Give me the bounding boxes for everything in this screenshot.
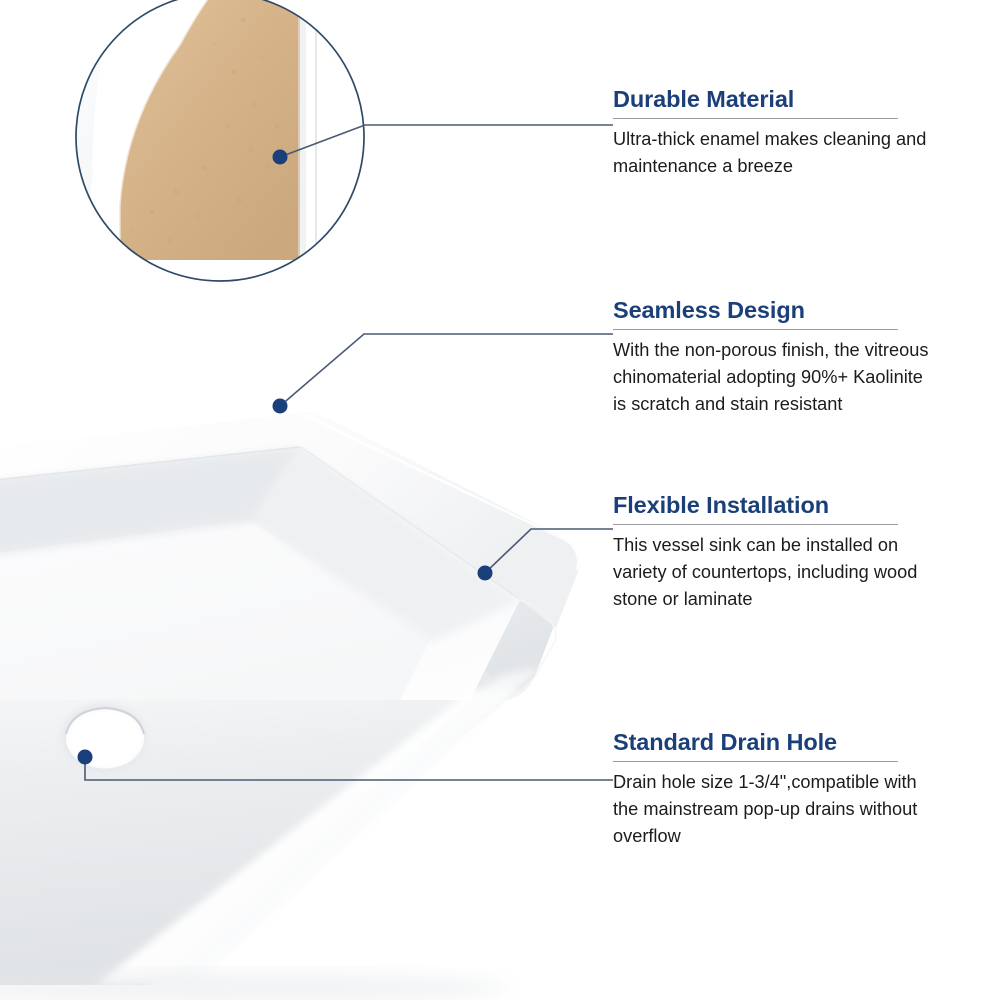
callout-divider bbox=[613, 118, 898, 119]
callout-divider bbox=[613, 524, 898, 525]
callout-body: With the non-porous finish, the vitreous… bbox=[613, 337, 928, 418]
callout-body-line: With the non-porous finish, the vitreous bbox=[613, 337, 928, 364]
callout-flexible-installation: Flexible Installation This vessel sink c… bbox=[613, 492, 917, 613]
callout-divider bbox=[613, 329, 898, 330]
callout-dot-flexible-installation bbox=[478, 566, 493, 581]
callout-body-line: maintenance a breeze bbox=[613, 153, 926, 180]
callout-body-line: the mainstream pop-up drains without bbox=[613, 796, 917, 823]
callout-divider bbox=[613, 761, 898, 762]
callout-body: Ultra-thick enamel makes cleaning and ma… bbox=[613, 126, 926, 180]
callout-body-line: chinomaterial adopting 90%+ Kaolinite bbox=[613, 364, 928, 391]
callout-body: Drain hole size 1-3/4",compatible with t… bbox=[613, 769, 917, 850]
callout-body-line: stone or laminate bbox=[613, 586, 917, 613]
callout-body-line: is scratch and stain resistant bbox=[613, 391, 928, 418]
leader-line-seamless-design bbox=[280, 334, 613, 406]
callout-dot-durable-material bbox=[273, 150, 288, 165]
callout-standard-drain-hole: Standard Drain Hole Drain hole size 1-3/… bbox=[613, 729, 917, 850]
infographic-canvas: Durable Material Ultra-thick enamel make… bbox=[0, 0, 994, 1000]
callout-heading: Seamless Design bbox=[613, 297, 928, 323]
callout-heading: Standard Drain Hole bbox=[613, 729, 917, 755]
callout-body: This vessel sink can be installed on var… bbox=[613, 532, 917, 613]
callout-body-line: This vessel sink can be installed on bbox=[613, 532, 917, 559]
drain-hole bbox=[62, 704, 146, 770]
callout-heading: Durable Material bbox=[613, 86, 926, 112]
callout-dot-standard-drain-hole bbox=[78, 750, 93, 765]
callout-seamless-design: Seamless Design With the non-porous fini… bbox=[613, 297, 928, 418]
callout-heading: Flexible Installation bbox=[613, 492, 917, 518]
callout-body-line: Ultra-thick enamel makes cleaning and bbox=[613, 126, 926, 153]
callout-dot-seamless-design bbox=[273, 399, 288, 414]
enamel-cross-section-inset bbox=[60, 0, 380, 300]
callout-body-line: Drain hole size 1-3/4",compatible with bbox=[613, 769, 917, 796]
callout-body-line: overflow bbox=[613, 823, 917, 850]
vessel-sink-illustration bbox=[0, 412, 580, 1000]
callout-body-line: variety of countertops, including wood bbox=[613, 559, 917, 586]
callout-durable-material: Durable Material Ultra-thick enamel make… bbox=[613, 86, 926, 180]
